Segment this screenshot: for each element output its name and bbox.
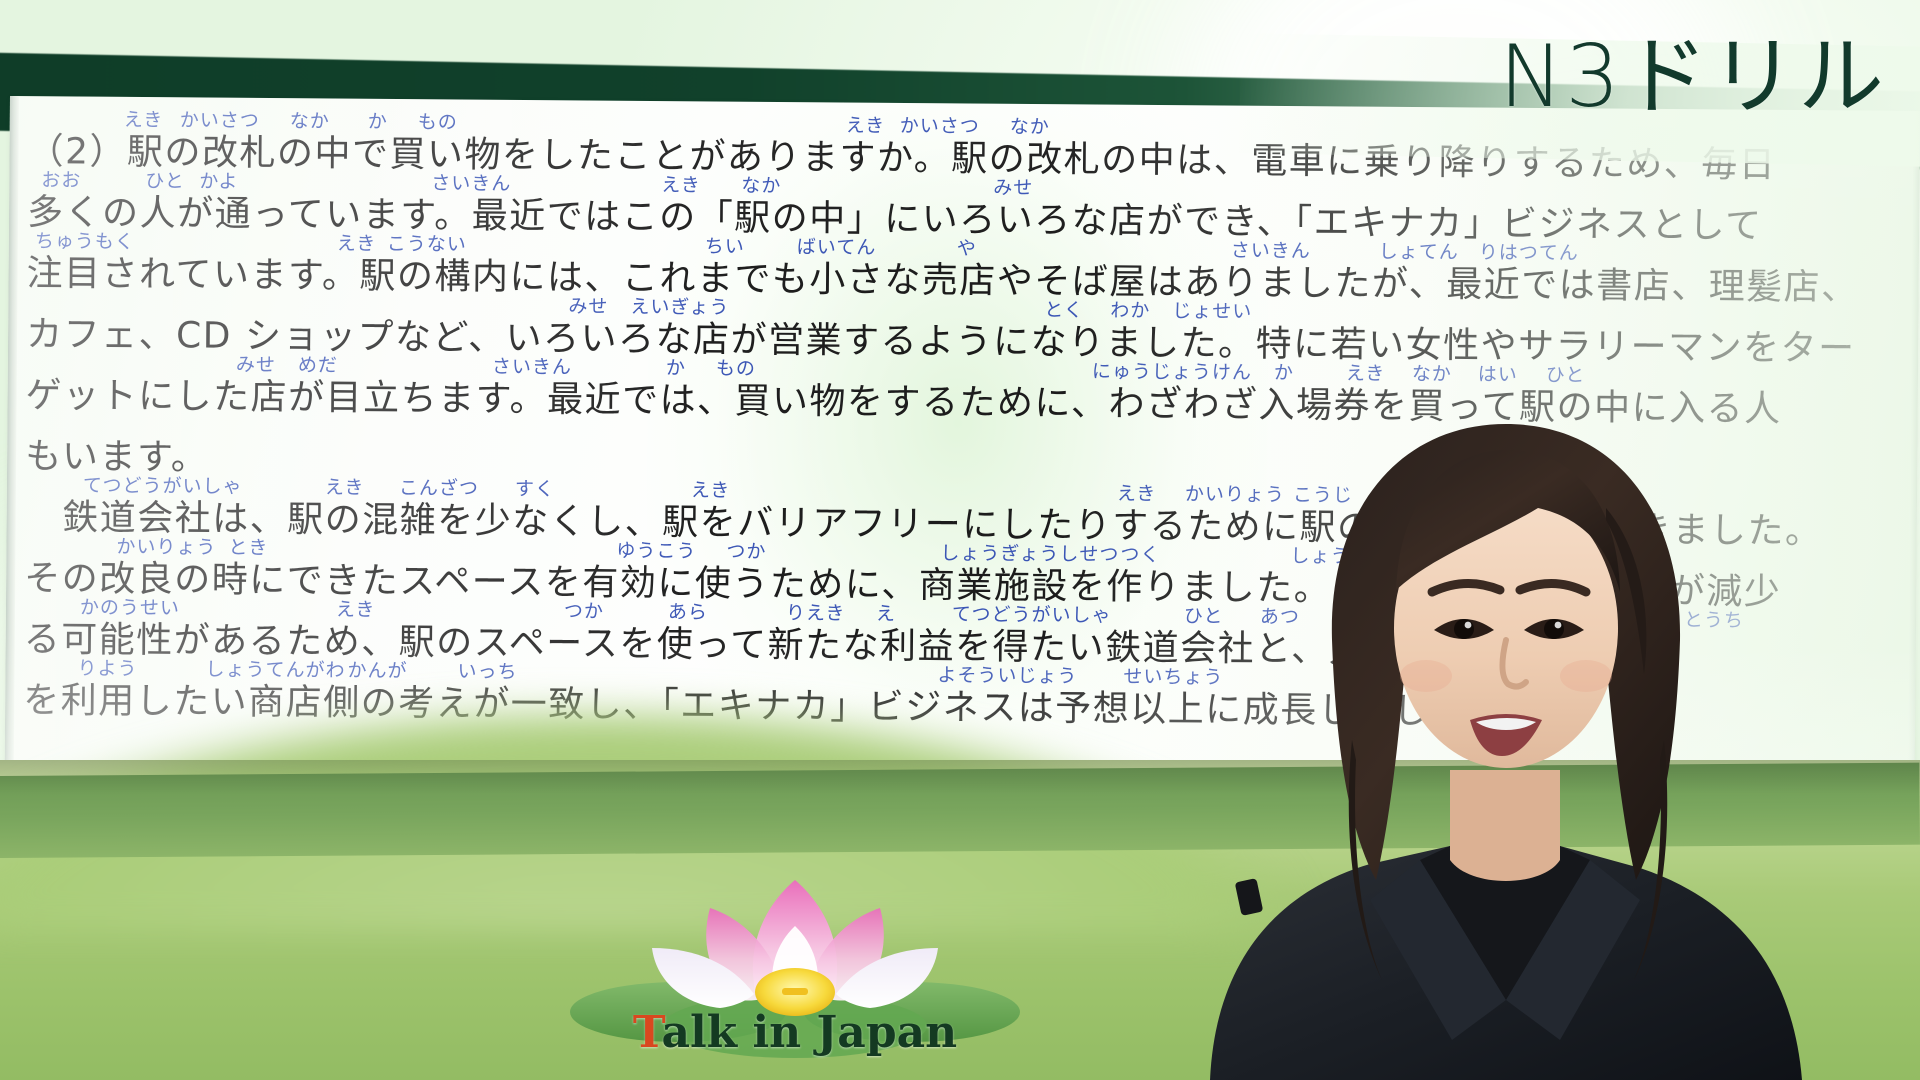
brand-logo-text: Talk in Japan: [633, 1007, 957, 1058]
brand-logo: Talk in Japan: [560, 840, 1030, 1080]
presenter-video-overlay: [1120, 340, 1920, 1080]
worksheet-left-edge: [5, 96, 19, 778]
brand-logo-rest: alk in Japan: [661, 1007, 957, 1058]
video-frame: えきかいさつなかかものえきかいさつなか（2）駅の改札の中で買い物をしたことがあり…: [0, 0, 1920, 1080]
page-title: N3ドリル: [1499, 6, 1886, 131]
brand-logo-initial: T: [633, 1007, 662, 1058]
presenter-figure: [1120, 340, 1920, 1080]
